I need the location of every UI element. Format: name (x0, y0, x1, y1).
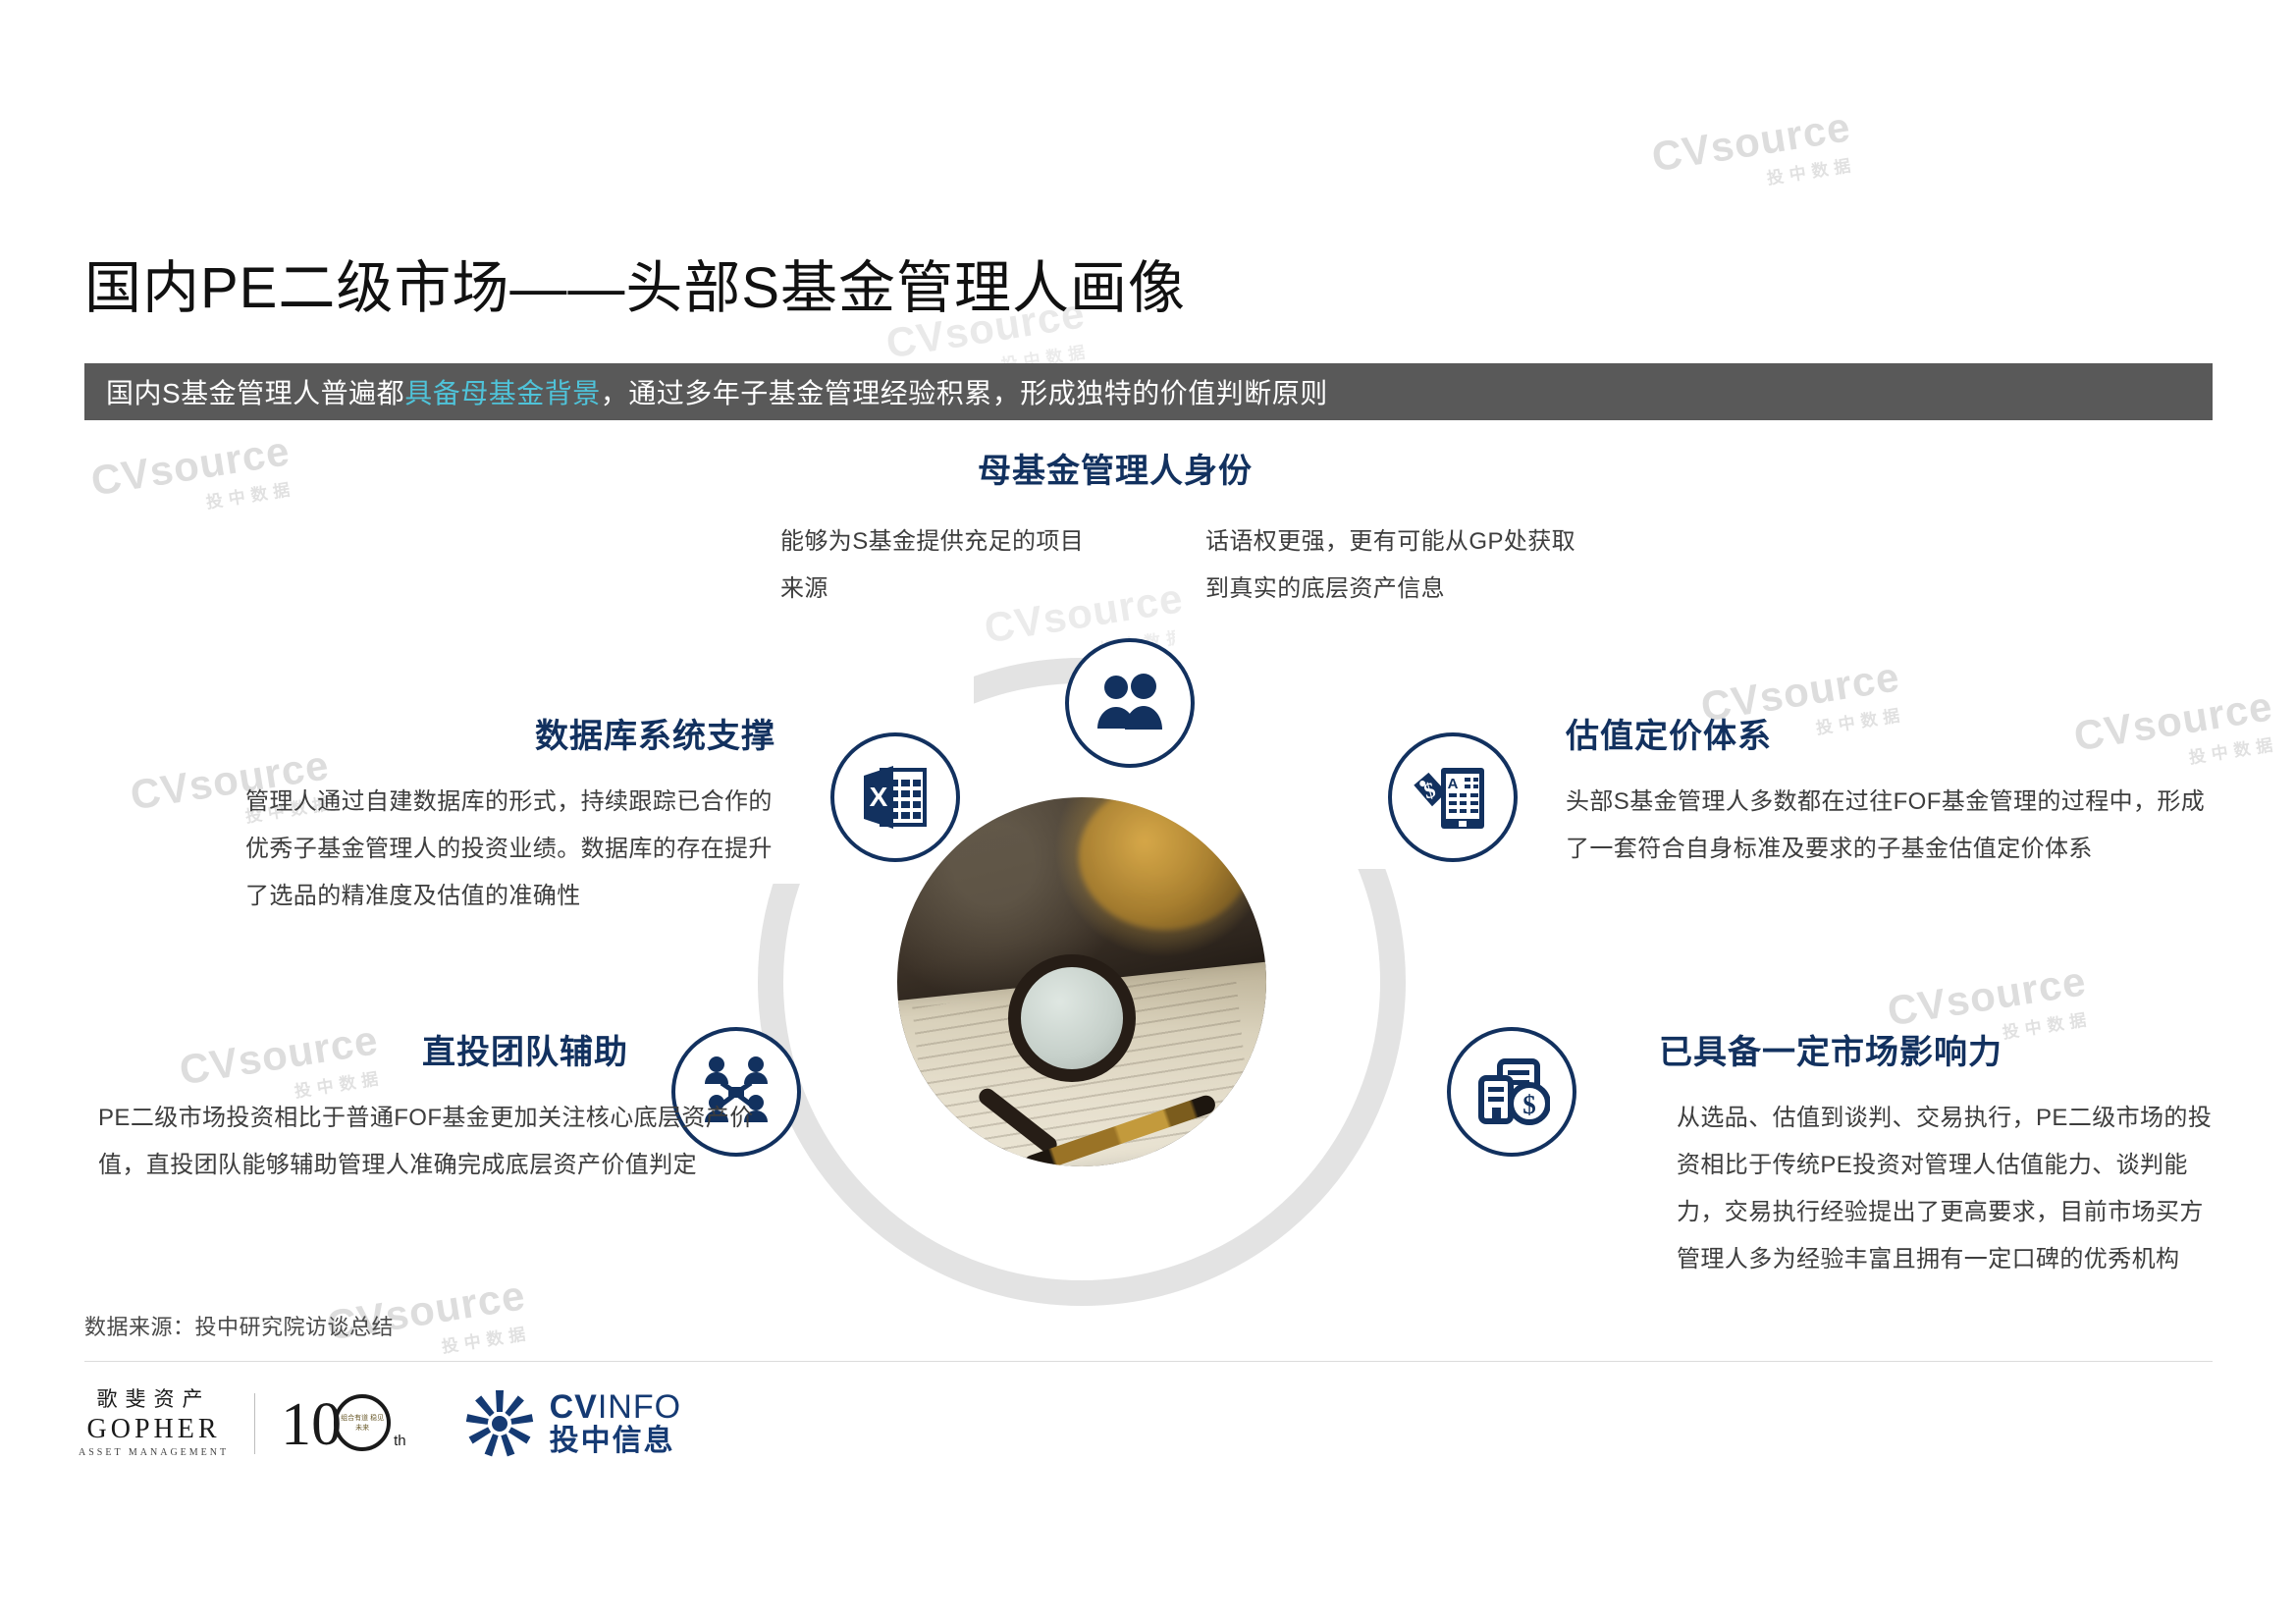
cvinfo-line1: CVINFO (550, 1390, 681, 1426)
gopher-logo-sub: ASSET MANAGEMENT (79, 1448, 229, 1458)
slide-canvas: CVsource 投中数据 CVsource 投中数据 CVsource 投中数… (0, 0, 2296, 1624)
block-body: PE二级市场投资相比于普通FOF基金更加关注核心底层资产价值，直投团队能够辅助管… (98, 1095, 775, 1189)
source-note: 数据来源：投中研究院访谈总结 (84, 1310, 394, 1341)
block-heading: 数据库系统支撑 (118, 717, 775, 757)
subtitle-band: 国内S基金管理人普遍都具备母基金背景，通过多年子基金管理经验积累，形成独特的价值… (84, 363, 2213, 420)
watermark-small: 投中数据 (1656, 151, 1857, 207)
center-photo (888, 788, 1275, 1175)
anniversary-motto: 组合有道 稳见未来 (334, 1394, 391, 1451)
watermark: CVsource 投中数据 (1649, 106, 1858, 206)
watermark-small: 投中数据 (95, 475, 296, 531)
anniversary-logo: 10 组合有道 稳见未来 th (281, 1394, 406, 1453)
cvinfo-logo: CVINFO 投中信息 (463, 1387, 681, 1460)
block-heading: 直投团队辅助 (98, 1033, 775, 1073)
block-market-influence: 已具备一定市场影响力 从选品、估值到谈判、交易执行，PE二级市场的投资相比于传统… (1659, 1033, 2218, 1283)
svg-text:X: X (870, 782, 888, 812)
excel-spreadsheet-icon: X (856, 762, 934, 833)
anniversary-number: 10 (281, 1398, 342, 1453)
block-direct-investment: 直投团队辅助 PE二级市场投资相比于普通FOF基金更加关注核心底层资产价值，直投… (98, 1033, 775, 1189)
footer-logos: 歌斐资产 GOPHER ASSET MANAGEMENT 10 组合有道 稳见未… (79, 1375, 681, 1473)
subtitle-before: 国内S基金管理人普遍都 (106, 378, 404, 408)
gopher-logo-en: GOPHER (87, 1416, 221, 1443)
starburst-icon (463, 1387, 536, 1460)
cvinfo-line2: 投中信息 (550, 1426, 681, 1457)
block-database: 数据库系统支撑 管理人通过自建数据库的形式，持续跟踪已合作的优秀子基金管理人的投… (118, 717, 775, 920)
block-valuation: 估值定价体系 头部S基金管理人多数都在过往FOF基金管理的过程中，形成了一套符合… (1566, 717, 2214, 873)
subtitle-text: 国内S基金管理人普遍都具备母基金背景，通过多年子基金管理经验积累，形成独特的价值… (84, 372, 1328, 411)
page-title: 国内PE二级市场——头部S基金管理人画像 (84, 257, 1186, 320)
block-heading: 估值定价体系 (1566, 717, 2214, 757)
gopher-logo: 歌斐资产 GOPHER ASSET MANAGEMENT (79, 1389, 229, 1458)
icon-bubble-database[interactable]: X (830, 732, 960, 862)
watermark: CVsource 投中数据 (88, 430, 297, 530)
subtitle-highlight: 具备母基金背景 (404, 378, 601, 408)
photo-globe (1079, 788, 1252, 930)
subtitle-after: ，通过多年子基金管理经验积累，形成独特的价值判断原则 (601, 378, 1328, 408)
price-tag-tablet-icon: $ A (1414, 762, 1492, 833)
diagram-ring (728, 461, 1573, 1326)
buildings-dollar-icon: $ (1473, 1056, 1550, 1127)
icon-bubble-people[interactable] (1065, 638, 1195, 768)
photo-magnifier (1008, 954, 1136, 1082)
icon-bubble-valuation[interactable]: $ A (1388, 732, 1518, 862)
block-body: 头部S基金管理人多数都在过往FOF基金管理的过程中，形成了一套符合自身标准及要求… (1566, 779, 2214, 873)
watermark-big: CVsource (88, 430, 293, 502)
cvinfo-text: CVINFO 投中信息 (550, 1390, 681, 1456)
cvinfo-cv: CV (550, 1388, 598, 1426)
icon-bubble-market-influence[interactable]: $ (1447, 1027, 1576, 1157)
logo-divider (254, 1393, 255, 1454)
people-pair-icon (1093, 674, 1167, 732)
anniversary-suffix: th (394, 1433, 406, 1449)
watermark-big: CVsource (1885, 960, 2089, 1032)
footer-divider (84, 1361, 2213, 1362)
block-body: 从选品、估值到谈判、交易执行，PE二级市场的投资相比于传统PE投资对管理人估值能… (1659, 1095, 2218, 1283)
gopher-logo-cn: 歌斐资产 (97, 1389, 211, 1410)
watermark-big: CVsource (1649, 106, 1853, 178)
cvinfo-info: INFO (598, 1388, 681, 1426)
svg-text:A: A (1448, 776, 1459, 792)
svg-text:$: $ (1522, 1090, 1536, 1119)
block-body: 管理人通过自建数据库的形式，持续跟踪已合作的优秀子基金管理人的投资业绩。数据库的… (118, 779, 775, 920)
block-heading: 已具备一定市场影响力 (1659, 1033, 2218, 1073)
